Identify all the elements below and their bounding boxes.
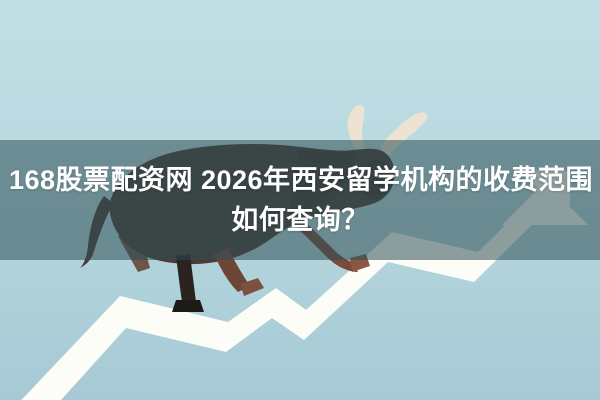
banner-title: 168股票配资网 2026年西安留学机构的收费范围 如何查询？ bbox=[0, 140, 600, 260]
title-line-primary: 168股票配资网 2026年西安留学机构的收费范围 bbox=[7, 162, 593, 198]
banner-image: 168股票配资网 2026年西安留学机构的收费范围 如何查询？ bbox=[0, 0, 600, 400]
title-line-secondary: 如何查询？ bbox=[231, 202, 369, 238]
